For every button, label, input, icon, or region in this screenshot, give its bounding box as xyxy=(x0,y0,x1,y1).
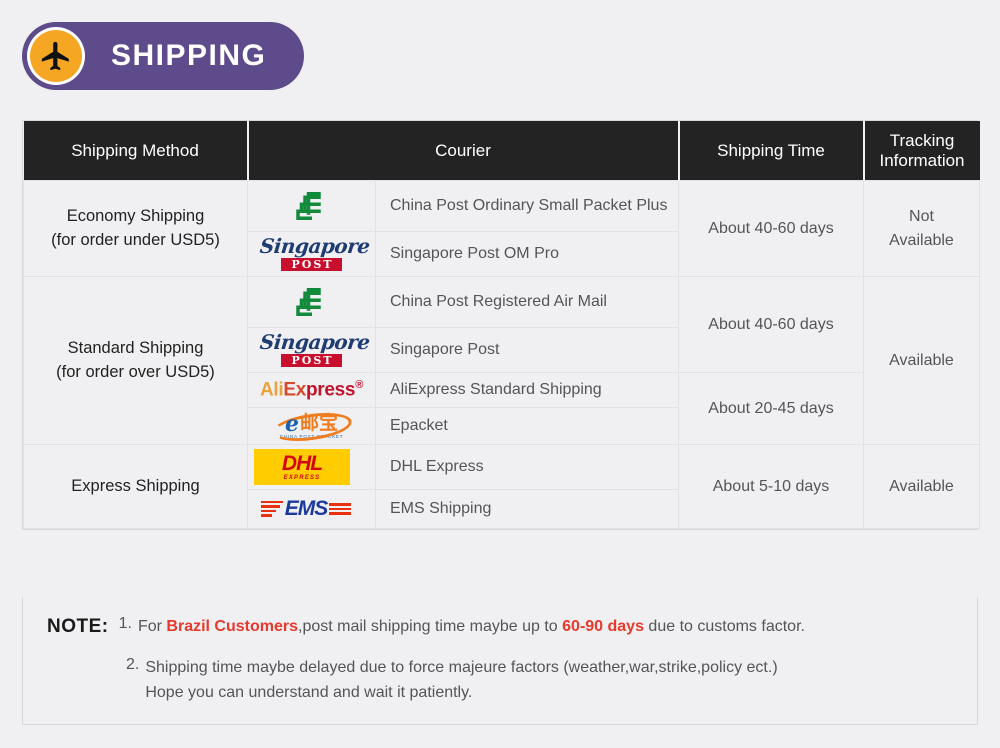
dhl-sub: EXPRESS xyxy=(284,475,321,481)
ali-part3: press xyxy=(306,379,355,400)
table-row: Express Shipping DHL EXPRESS DHL Express… xyxy=(24,444,980,489)
column-header-shipping-method: Shipping Method xyxy=(24,121,248,181)
china-post-logo xyxy=(248,277,376,328)
tracking-status-available: Available xyxy=(864,444,980,528)
note-2-text: Shipping time maybe delayed due to force… xyxy=(145,656,777,706)
note-1-highlight-days: 60-90 days xyxy=(562,618,644,635)
aliexpress-logo: AliExpress® xyxy=(248,373,376,408)
china-post-logo xyxy=(248,181,376,232)
sgpost-sub: POST xyxy=(281,354,343,367)
courier-name: Epacket xyxy=(376,408,679,445)
note-1-post: due to customs factor. xyxy=(644,618,805,635)
shipping-method-standard: Standard Shipping (for order over USD5) xyxy=(24,277,248,445)
shipping-method-express: Express Shipping xyxy=(24,444,248,528)
note-2-line1: Shipping time maybe delayed due to force… xyxy=(145,656,777,681)
epacket-logo: e邮宝 CHINA POST EPACKET xyxy=(248,408,376,445)
courier-name: Singapore Post OM Pro xyxy=(376,232,679,277)
courier-name: China Post Ordinary Small Packet Plus xyxy=(376,181,679,232)
tracking-line2: Available xyxy=(864,229,979,252)
note-1-highlight-brazil: Brazil Customers xyxy=(166,618,298,635)
courier-name: EMS Shipping xyxy=(376,489,679,528)
dhl-word: DHL xyxy=(282,453,322,474)
singapore-post-logo: Singapore POST xyxy=(248,328,376,373)
courier-name: AliExpress Standard Shipping xyxy=(376,373,679,408)
ali-trademark: ® xyxy=(355,379,363,391)
sgpost-sub: POST xyxy=(281,258,343,271)
airplane-icon xyxy=(30,30,82,82)
note-1-mid: ,post mail shipping time maybe up to xyxy=(298,618,562,635)
ems-word: EMS xyxy=(285,497,328,521)
ems-logo: EMS xyxy=(248,489,376,528)
method-label-line1: Economy Shipping xyxy=(32,205,239,229)
courier-name: China Post Registered Air Mail xyxy=(376,277,679,328)
note-1-text: For Brazil Customers,post mail shipping … xyxy=(138,615,805,640)
shipping-header-badge: SHIPPING xyxy=(22,22,304,90)
tracking-header-line2: Information xyxy=(879,151,964,170)
note-item-2: 2. Shipping time maybe delayed due to fo… xyxy=(47,656,953,706)
method-label-line2: (for order over USD5) xyxy=(32,361,239,385)
note-2-number: 2. xyxy=(126,656,139,674)
table-header-row: Shipping Method Courier Shipping Time Tr… xyxy=(24,121,980,181)
shipping-time-value: About 20-45 days xyxy=(679,373,864,445)
table-row: Economy Shipping (for order under USD5) xyxy=(24,181,980,232)
page-title: SHIPPING xyxy=(111,39,266,73)
tracking-line1: Not xyxy=(864,205,979,228)
dhl-logo: DHL EXPRESS xyxy=(248,444,376,489)
note-2-line2: Hope you can understand and wait it pati… xyxy=(145,681,777,706)
epacket-e: e xyxy=(285,410,299,436)
ems-left-bars xyxy=(261,501,283,517)
note-item-1: NOTE: 1. For Brazil Customers,post mail … xyxy=(47,615,953,640)
note-label: NOTE: xyxy=(47,615,109,638)
shipping-method-economy: Economy Shipping (for order under USD5) xyxy=(24,181,248,277)
note-1-number: 1. xyxy=(119,615,132,633)
table-row: Standard Shipping (for order over USD5) xyxy=(24,277,980,328)
tracking-status-not-available: Not Available xyxy=(864,181,980,277)
column-header-tracking-information: Tracking Information xyxy=(864,121,980,181)
method-label-line1: Express Shipping xyxy=(32,475,239,499)
column-header-courier: Courier xyxy=(248,121,679,181)
note-1-pre: For xyxy=(138,618,166,635)
shipping-time-value: About 5-10 days xyxy=(679,444,864,528)
notes-section: NOTE: 1. For Brazil Customers,post mail … xyxy=(22,597,978,725)
method-label-line1: Standard Shipping xyxy=(32,337,239,361)
tracking-status-available: Available xyxy=(864,277,980,445)
tracking-header-line1: Tracking xyxy=(890,131,955,150)
epacket-chinese: 邮宝 xyxy=(300,413,338,434)
sgpost-word: Singapore xyxy=(258,332,364,352)
shipping-info-page: SHIPPING Shipping Method Courier Shippin… xyxy=(0,0,1000,748)
shipping-time-value: About 40-60 days xyxy=(679,181,864,277)
singapore-post-logo: Singapore POST xyxy=(248,232,376,277)
method-label-line2: (for order under USD5) xyxy=(32,229,239,253)
shipping-time-value: About 40-60 days xyxy=(679,277,864,373)
ali-part1: Ali xyxy=(260,379,283,400)
column-header-shipping-time: Shipping Time xyxy=(679,121,864,181)
shipping-table: Shipping Method Courier Shipping Time Tr… xyxy=(22,120,978,530)
courier-name: DHL Express xyxy=(376,444,679,489)
ali-part2: Ex xyxy=(283,379,306,400)
courier-name: Singapore Post xyxy=(376,328,679,373)
ems-right-bars xyxy=(329,503,351,515)
badge-icon-circle xyxy=(27,27,85,85)
sgpost-word: Singapore xyxy=(258,236,364,256)
